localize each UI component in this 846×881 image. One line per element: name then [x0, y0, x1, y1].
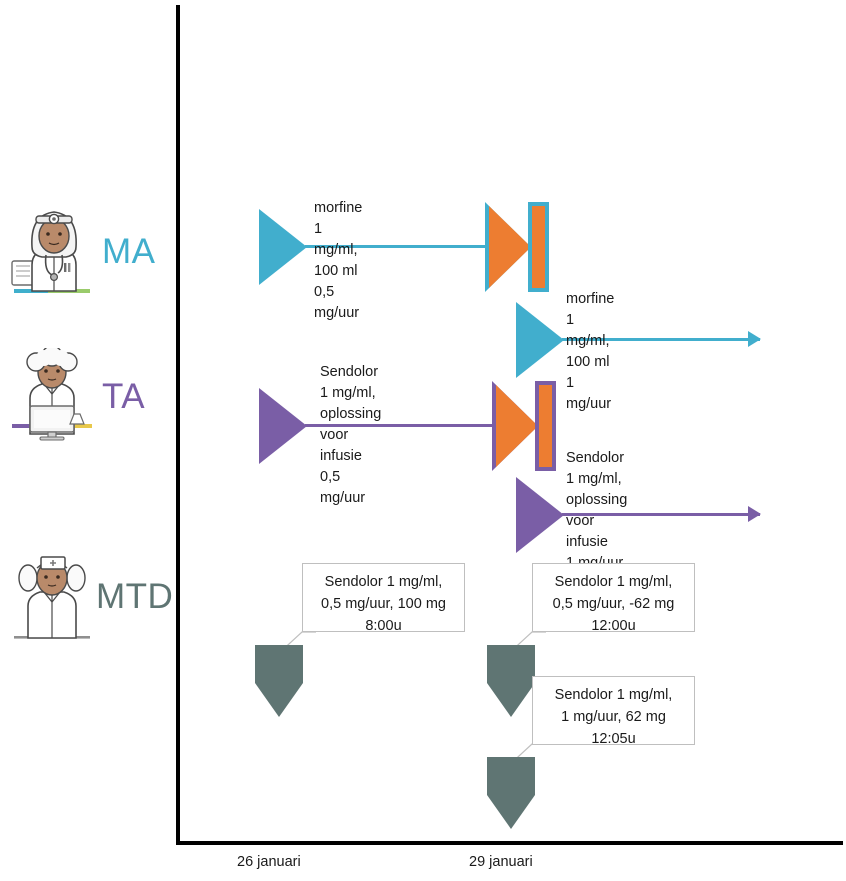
row-label-mtd: MTD — [8, 548, 173, 644]
flow-label: Sendolor 1 mg/ml, oplossing voor infusie… — [566, 448, 627, 574]
doctor-avatar-icon — [8, 203, 96, 299]
horizontal-axis — [176, 841, 843, 845]
row-label-ta: TA — [8, 348, 145, 444]
administration-marker — [487, 645, 535, 717]
flow-stop-icon — [496, 385, 556, 467]
administration-marker — [255, 645, 303, 717]
flow-start-triangle — [516, 302, 564, 378]
callout-box: Sendolor 1 mg/ml, 0,5 mg/uur, -62 mg 12:… — [532, 563, 695, 632]
flow-label: morfine 1 mg/ml, 100 ml 1 mg/uur — [566, 289, 614, 415]
flow-label: Sendolor 1 mg/ml, oplossing voor infusie… — [320, 362, 381, 509]
flow-label: morfine 1 mg/ml, 100 ml 0,5 mg/uur — [314, 198, 362, 324]
flow-stop-icon — [489, 206, 549, 288]
axis-tick-label-0: 26 januari — [237, 854, 301, 870]
scientist-avatar-icon — [8, 348, 96, 444]
row-label-ma: MA — [8, 203, 156, 299]
callout-box: Sendolor 1 mg/ml, 1 mg/uur, 62 mg 12:05u — [532, 676, 695, 745]
callout-box: Sendolor 1 mg/ml, 0,5 mg/uur, 100 mg 8:0… — [302, 563, 465, 632]
flow-start-triangle — [259, 209, 307, 285]
role-label-text: TA — [102, 379, 145, 414]
nurse-avatar-icon — [8, 548, 96, 644]
flow-arrowhead — [748, 506, 761, 522]
role-label-text: MTD — [96, 579, 173, 614]
flow-start-triangle — [259, 388, 307, 464]
timeline-diagram: MA morfine 1 mg/ml, 100 ml 0,5 mg/uur mo… — [0, 0, 846, 881]
axis-tick-label-1: 29 januari — [469, 854, 533, 870]
flow-arrowhead — [748, 331, 761, 347]
flow-start-triangle — [516, 477, 564, 553]
administration-marker — [487, 757, 535, 829]
role-label-text: MA — [102, 234, 156, 269]
vertical-axis — [176, 5, 180, 845]
